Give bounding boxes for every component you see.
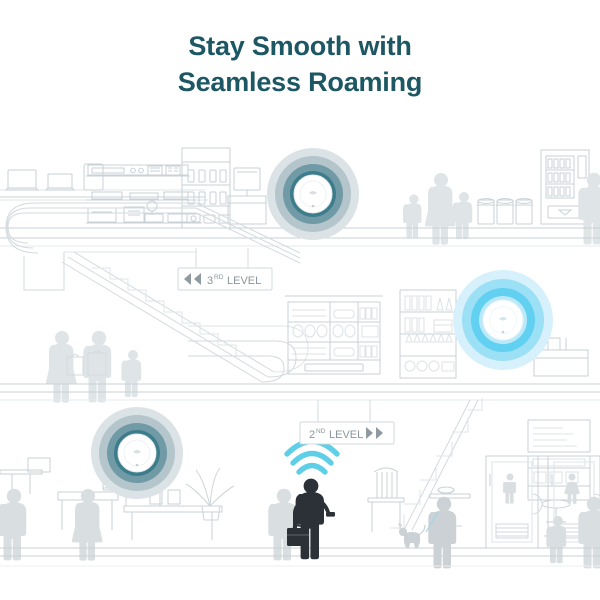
- access-point-middle[interactable]: [453, 270, 553, 370]
- title-line-2: Seamless Roaming: [0, 64, 600, 100]
- access-point-top[interactable]: [267, 148, 359, 240]
- ap-led: [136, 464, 139, 467]
- briefcase: [287, 526, 309, 547]
- ap-led: [502, 331, 505, 334]
- poster-canvas: Stay Smooth with Seamless Roaming 3 RD L…: [0, 0, 600, 600]
- ap-led: [312, 205, 315, 208]
- access-point-bottom[interactable]: [91, 407, 183, 499]
- smartphone: [326, 512, 335, 517]
- title-line-1: Stay Smooth with: [0, 28, 600, 64]
- page-title: Stay Smooth with Seamless Roaming: [0, 28, 600, 100]
